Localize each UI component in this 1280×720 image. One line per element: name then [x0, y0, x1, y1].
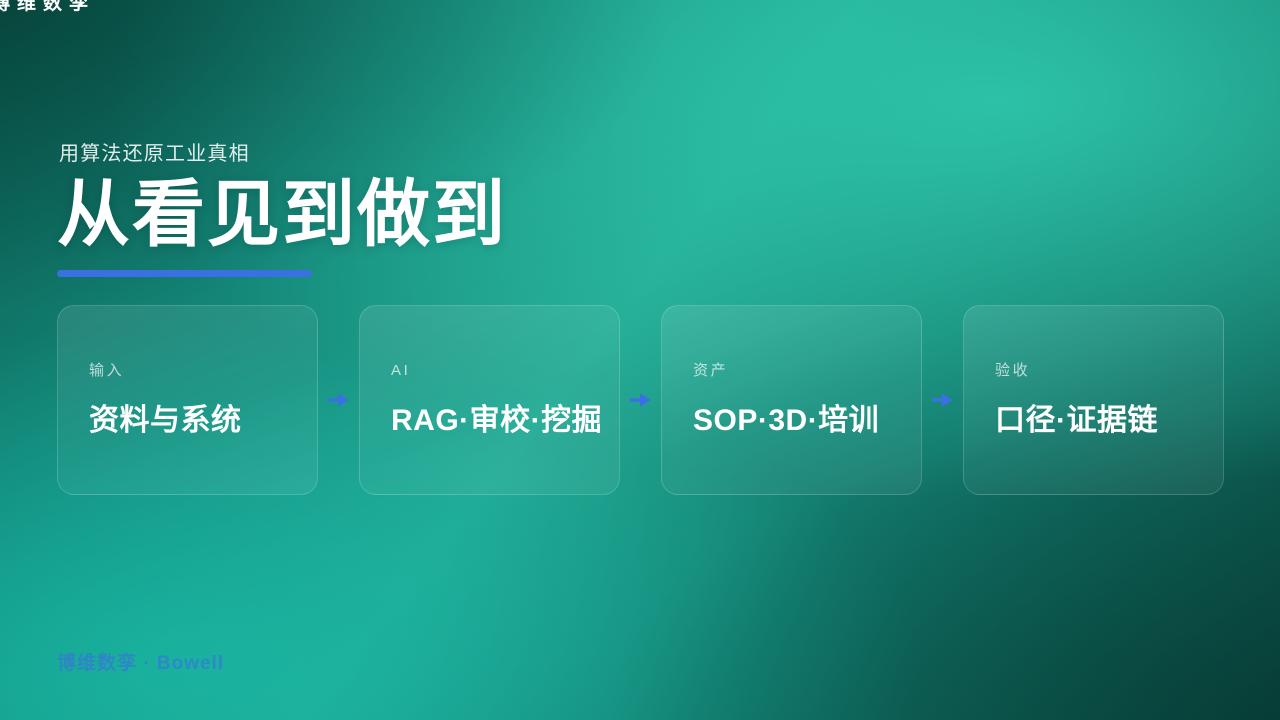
brand-logo-mark: 博维数孪 — [0, 0, 95, 15]
pipeline-card-title: RAG·审校·挖掘 — [391, 402, 619, 440]
arrow-right-icon — [328, 392, 350, 408]
pipeline-card-title: SOP·3D·培训 — [693, 402, 921, 440]
pipeline-connector-2 — [620, 305, 661, 495]
pipeline-card-label: AI — [391, 362, 619, 380]
pipeline-card-input[interactable]: 输入 资料与系统 — [57, 305, 318, 495]
arrow-right-icon — [630, 392, 652, 408]
pipeline-card-label: 输入 — [89, 362, 317, 380]
arrow-right-icon — [932, 392, 954, 408]
pipeline-card-label: 验收 — [995, 362, 1223, 380]
pipeline-steps: 输入 资料与系统 AI RAG·审校·挖掘 资产 SOP·3D·培训 — [57, 305, 1224, 495]
pipeline-card-title: 资料与系统 — [89, 402, 317, 440]
pipeline-card-acceptance[interactable]: 验收 口径·证据链 — [963, 305, 1224, 495]
pipeline-card-ai[interactable]: AI RAG·审校·挖掘 — [359, 305, 620, 495]
pipeline-connector-3 — [922, 305, 963, 495]
pipeline-card-asset[interactable]: 资产 SOP·3D·培训 — [661, 305, 922, 495]
title-underline-rule — [57, 270, 312, 277]
pipeline-connector-1 — [318, 305, 359, 495]
slide-footer-brand: 博维数孪 · Bowell — [57, 648, 224, 675]
slide-eyebrow: 用算法还原工业真相 — [59, 140, 507, 168]
pipeline-card-title: 口径·证据链 — [995, 402, 1223, 440]
pipeline-card-label: 资产 — [693, 362, 921, 380]
headline-block: 用算法还原工业真相 从看见到做到 — [57, 140, 507, 277]
slide-title: 从看见到做到 — [57, 176, 507, 253]
presentation-slide: 博维数孪 用算法还原工业真相 从看见到做到 输入 资料与系统 AI RAG·审校… — [0, 0, 1280, 720]
